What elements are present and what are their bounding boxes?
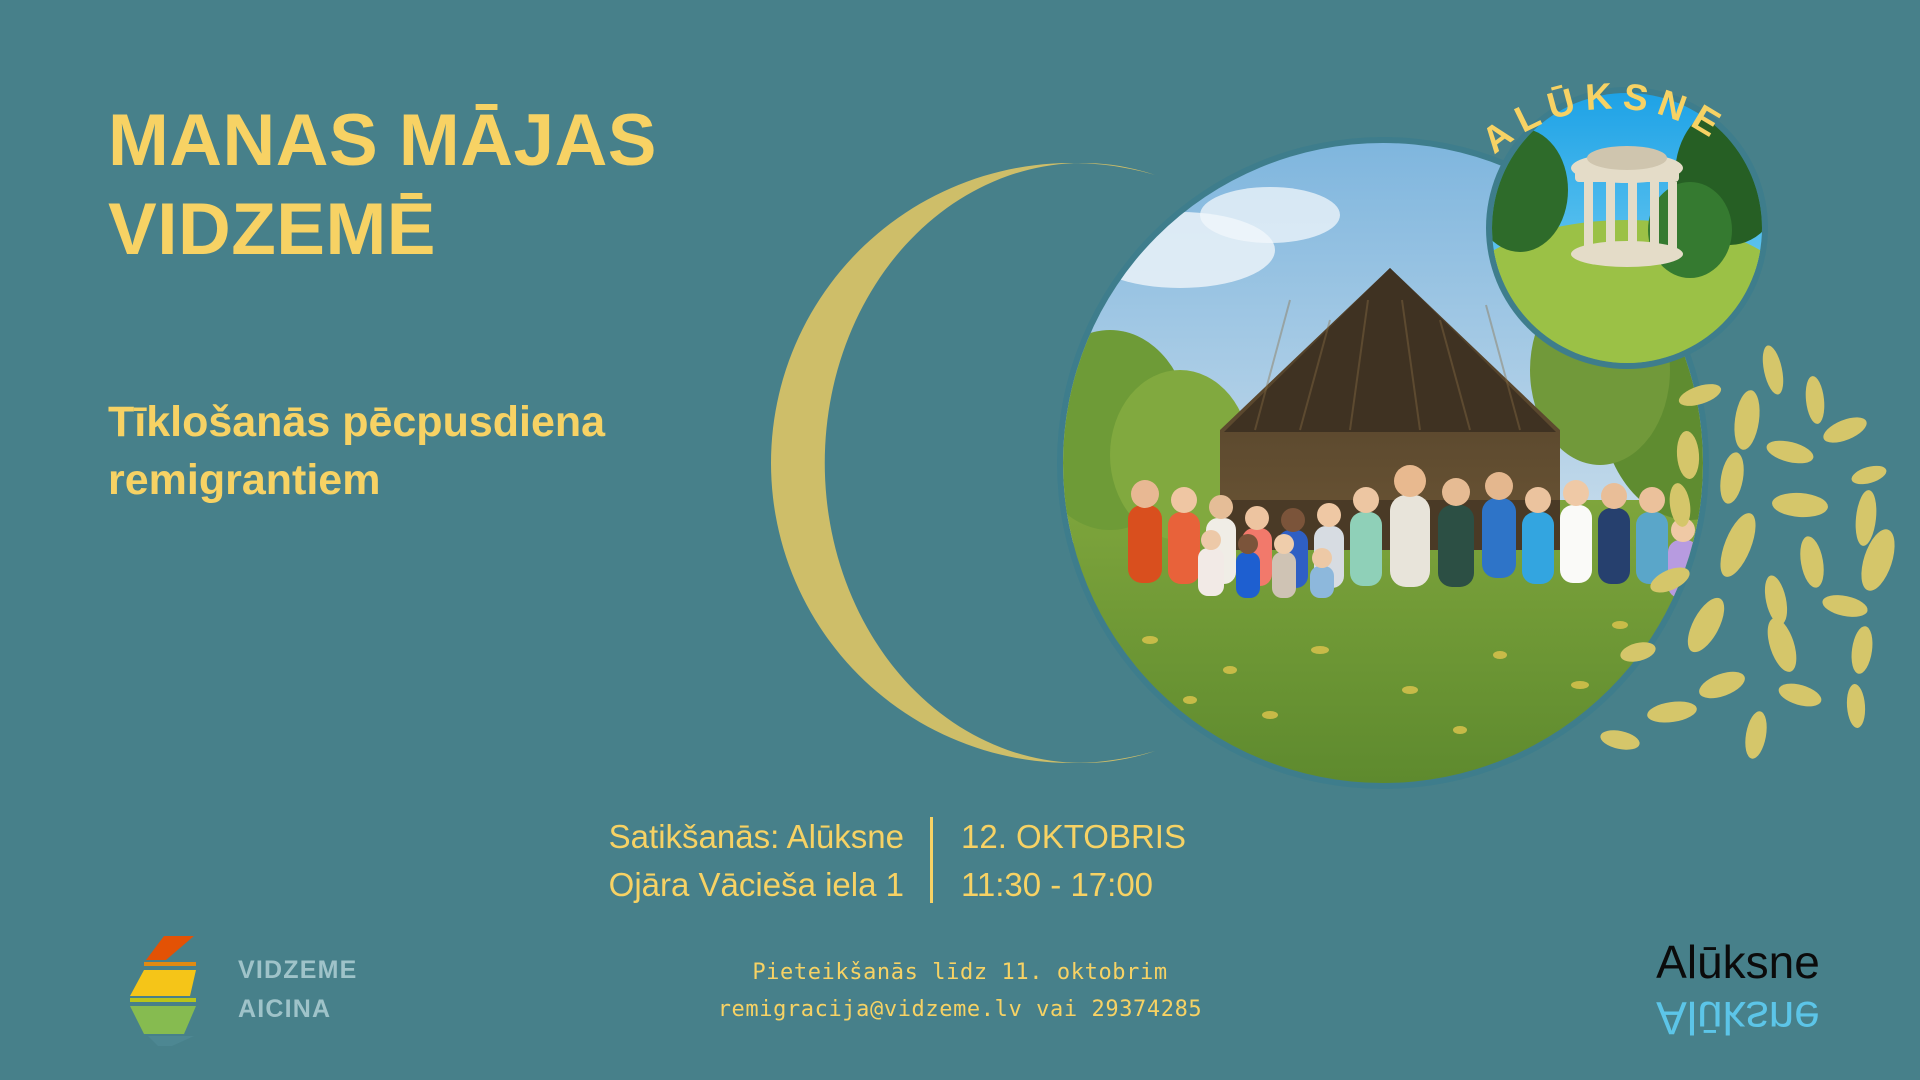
subtitle-line-1: Tīklošanās pēcpusdiena <box>108 393 808 451</box>
location-line-2: Ojāra Vācieša iela 1 <box>560 861 904 909</box>
vidzeme-logo-line-2: AICINA <box>238 990 358 1029</box>
headline-line-2: VIDZEMĒ <box>108 185 828 274</box>
event-location: Satikšanās: Alūksne Ojāra Vācieša iela 1 <box>560 813 930 909</box>
vidzeme-logo-line-1: VIDZEME <box>238 951 358 990</box>
page-title: MANAS MĀJAS VIDZEMĒ <box>108 96 828 274</box>
page-subtitle: Tīklošanās pēcpusdiena remigrantiem <box>108 393 808 510</box>
aluksne-logo-reflection: Alūksne <box>1656 992 1820 1044</box>
headline-line-1: MANAS MĀJAS <box>108 96 828 185</box>
aluksne-logo-text: Alūksne <box>1656 936 1820 988</box>
location-line-1: Satikšanās: Alūksne <box>560 813 904 861</box>
schedule-date: 12. OKTOBRIS <box>961 813 1186 861</box>
aluksne-logo-mark: Alūksne Alūksne <box>1628 928 1848 1048</box>
vidzeme-logo-text: VIDZEME AICINA <box>238 951 358 1029</box>
vidzeme-aicina-logo: VIDZEME AICINA <box>128 930 438 1050</box>
event-schedule: 12. OKTOBRIS 11:30 - 17:00 <box>933 813 1186 909</box>
aluksne-logo: Alūksne Alūksne <box>1628 928 1848 1048</box>
event-details: Satikšanās: Alūksne Ojāra Vācieša iela 1… <box>560 813 1360 909</box>
event-poster: ALŪKSNE <box>0 0 1920 1080</box>
schedule-time: 11:30 - 17:00 <box>961 861 1186 909</box>
vidzeme-sail-icon <box>128 934 220 1046</box>
subtitle-line-2: remigrantiem <box>108 451 808 509</box>
